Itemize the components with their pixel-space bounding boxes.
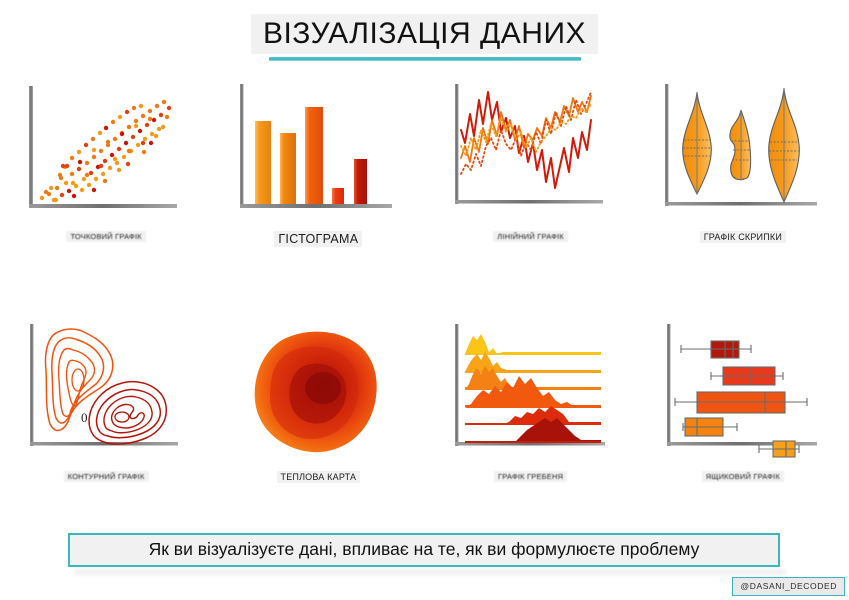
box-row-4: [683, 418, 737, 436]
chart-cell-violin[interactable]: ГРАФІК СКРИПКИ: [637, 78, 849, 247]
scatter-plot-svg: [18, 78, 194, 226]
ridgeline-plot-figure: [443, 318, 619, 466]
line-chart-svg: [443, 78, 619, 226]
chart-cell-boxplot[interactable]: ЯЩИКОВИЙ ГРАФІК: [637, 318, 849, 483]
chart-cell-heatmap[interactable]: ТЕПЛОВА КАРТА: [212, 318, 424, 483]
chart-cell-contour[interactable]: 0 КОНТУРНИЙ ГРАФІК: [0, 318, 212, 483]
page-title: ВІЗУАЛІЗАЦІЯ ДАНИХ: [0, 14, 849, 61]
chart-label-contour: КОНТУРНИЙ ГРАФІК: [64, 471, 149, 482]
box-row-2: [711, 367, 783, 385]
box-plot-rows: [675, 341, 807, 457]
box-plot-svg: [655, 318, 831, 466]
slide-canvas: ВІЗУАЛІЗАЦІЯ ДАНИХ: [0, 0, 849, 600]
caption-text: Як ви візуалізуєте дані, впливає на те, …: [149, 541, 700, 559]
chart-label-boxplot: ЯЩИКОВИЙ ГРАФІК: [702, 471, 784, 482]
heatmap-blob: [255, 332, 377, 453]
chart-label-heatmap: ТЕПЛОВА КАРТА: [277, 471, 361, 483]
chart-cell-ridgeline[interactable]: ГРАФІК ГРЕБЕНЯ: [425, 318, 637, 483]
chart-label-violin: ГРАФІК СКРИПКИ: [700, 231, 786, 243]
watermark-handle: @DASANI_DECODED: [732, 577, 845, 596]
contour-rings-lower: [89, 382, 166, 444]
scatter-plot-figure: [18, 78, 194, 226]
histogram-svg: [230, 78, 406, 226]
page-title-text: ВІЗУАЛІЗАЦІЯ ДАНИХ: [251, 14, 598, 54]
contour-plot-figure: 0: [18, 318, 194, 466]
chart-cell-line[interactable]: ЛІНІЙНИЙ ГРАФІК: [425, 78, 637, 247]
line-chart-figure: [443, 78, 619, 226]
caption-shadow: [74, 569, 786, 575]
chart-label-line: ЛІНІЙНИЙ ГРАФІК: [493, 231, 568, 242]
violin-shapes: [683, 88, 800, 202]
chart-row-top: ТОЧКОВИЙ ГРАФІК: [0, 78, 849, 247]
heatmap-svg: [230, 318, 406, 466]
chart-label-ridgeline: ГРАФІК ГРЕБЕНЯ: [494, 471, 567, 482]
chart-cell-scatter[interactable]: ТОЧКОВИЙ ГРАФІК: [0, 78, 212, 247]
histogram-figure: [230, 78, 406, 226]
contour-plot-svg: 0: [18, 318, 194, 466]
heatmap-figure: [230, 318, 406, 466]
box-row-3: [675, 392, 807, 413]
chart-row-bottom: 0 КОНТУРНИЙ ГРАФІК: [0, 318, 849, 483]
violin-plot-svg: [655, 78, 831, 226]
chart-label-scatter: ТОЧКОВИЙ ГРАФІК: [66, 231, 145, 242]
violin-plot-figure: [655, 78, 831, 226]
ridgeline-series: [465, 334, 601, 442]
box-plot-figure: [655, 318, 831, 466]
chart-label-histogram: ГІСТОГРАМА: [274, 231, 362, 247]
chart-cell-histogram[interactable]: ГІСТОГРАМА: [212, 78, 424, 247]
ridgeline-plot-svg: [443, 318, 619, 466]
contour-annotation-zero: 0: [81, 410, 88, 425]
contour-rings-upper: [46, 329, 113, 430]
title-underline-rule: [269, 57, 581, 61]
box-row-1: [681, 341, 751, 358]
caption-banner[interactable]: Як ви візуалізуєте дані, впливає на те, …: [68, 533, 780, 567]
scatter-points: [40, 100, 171, 202]
line-series-group: [461, 92, 591, 188]
histogram-bars: [255, 107, 367, 204]
